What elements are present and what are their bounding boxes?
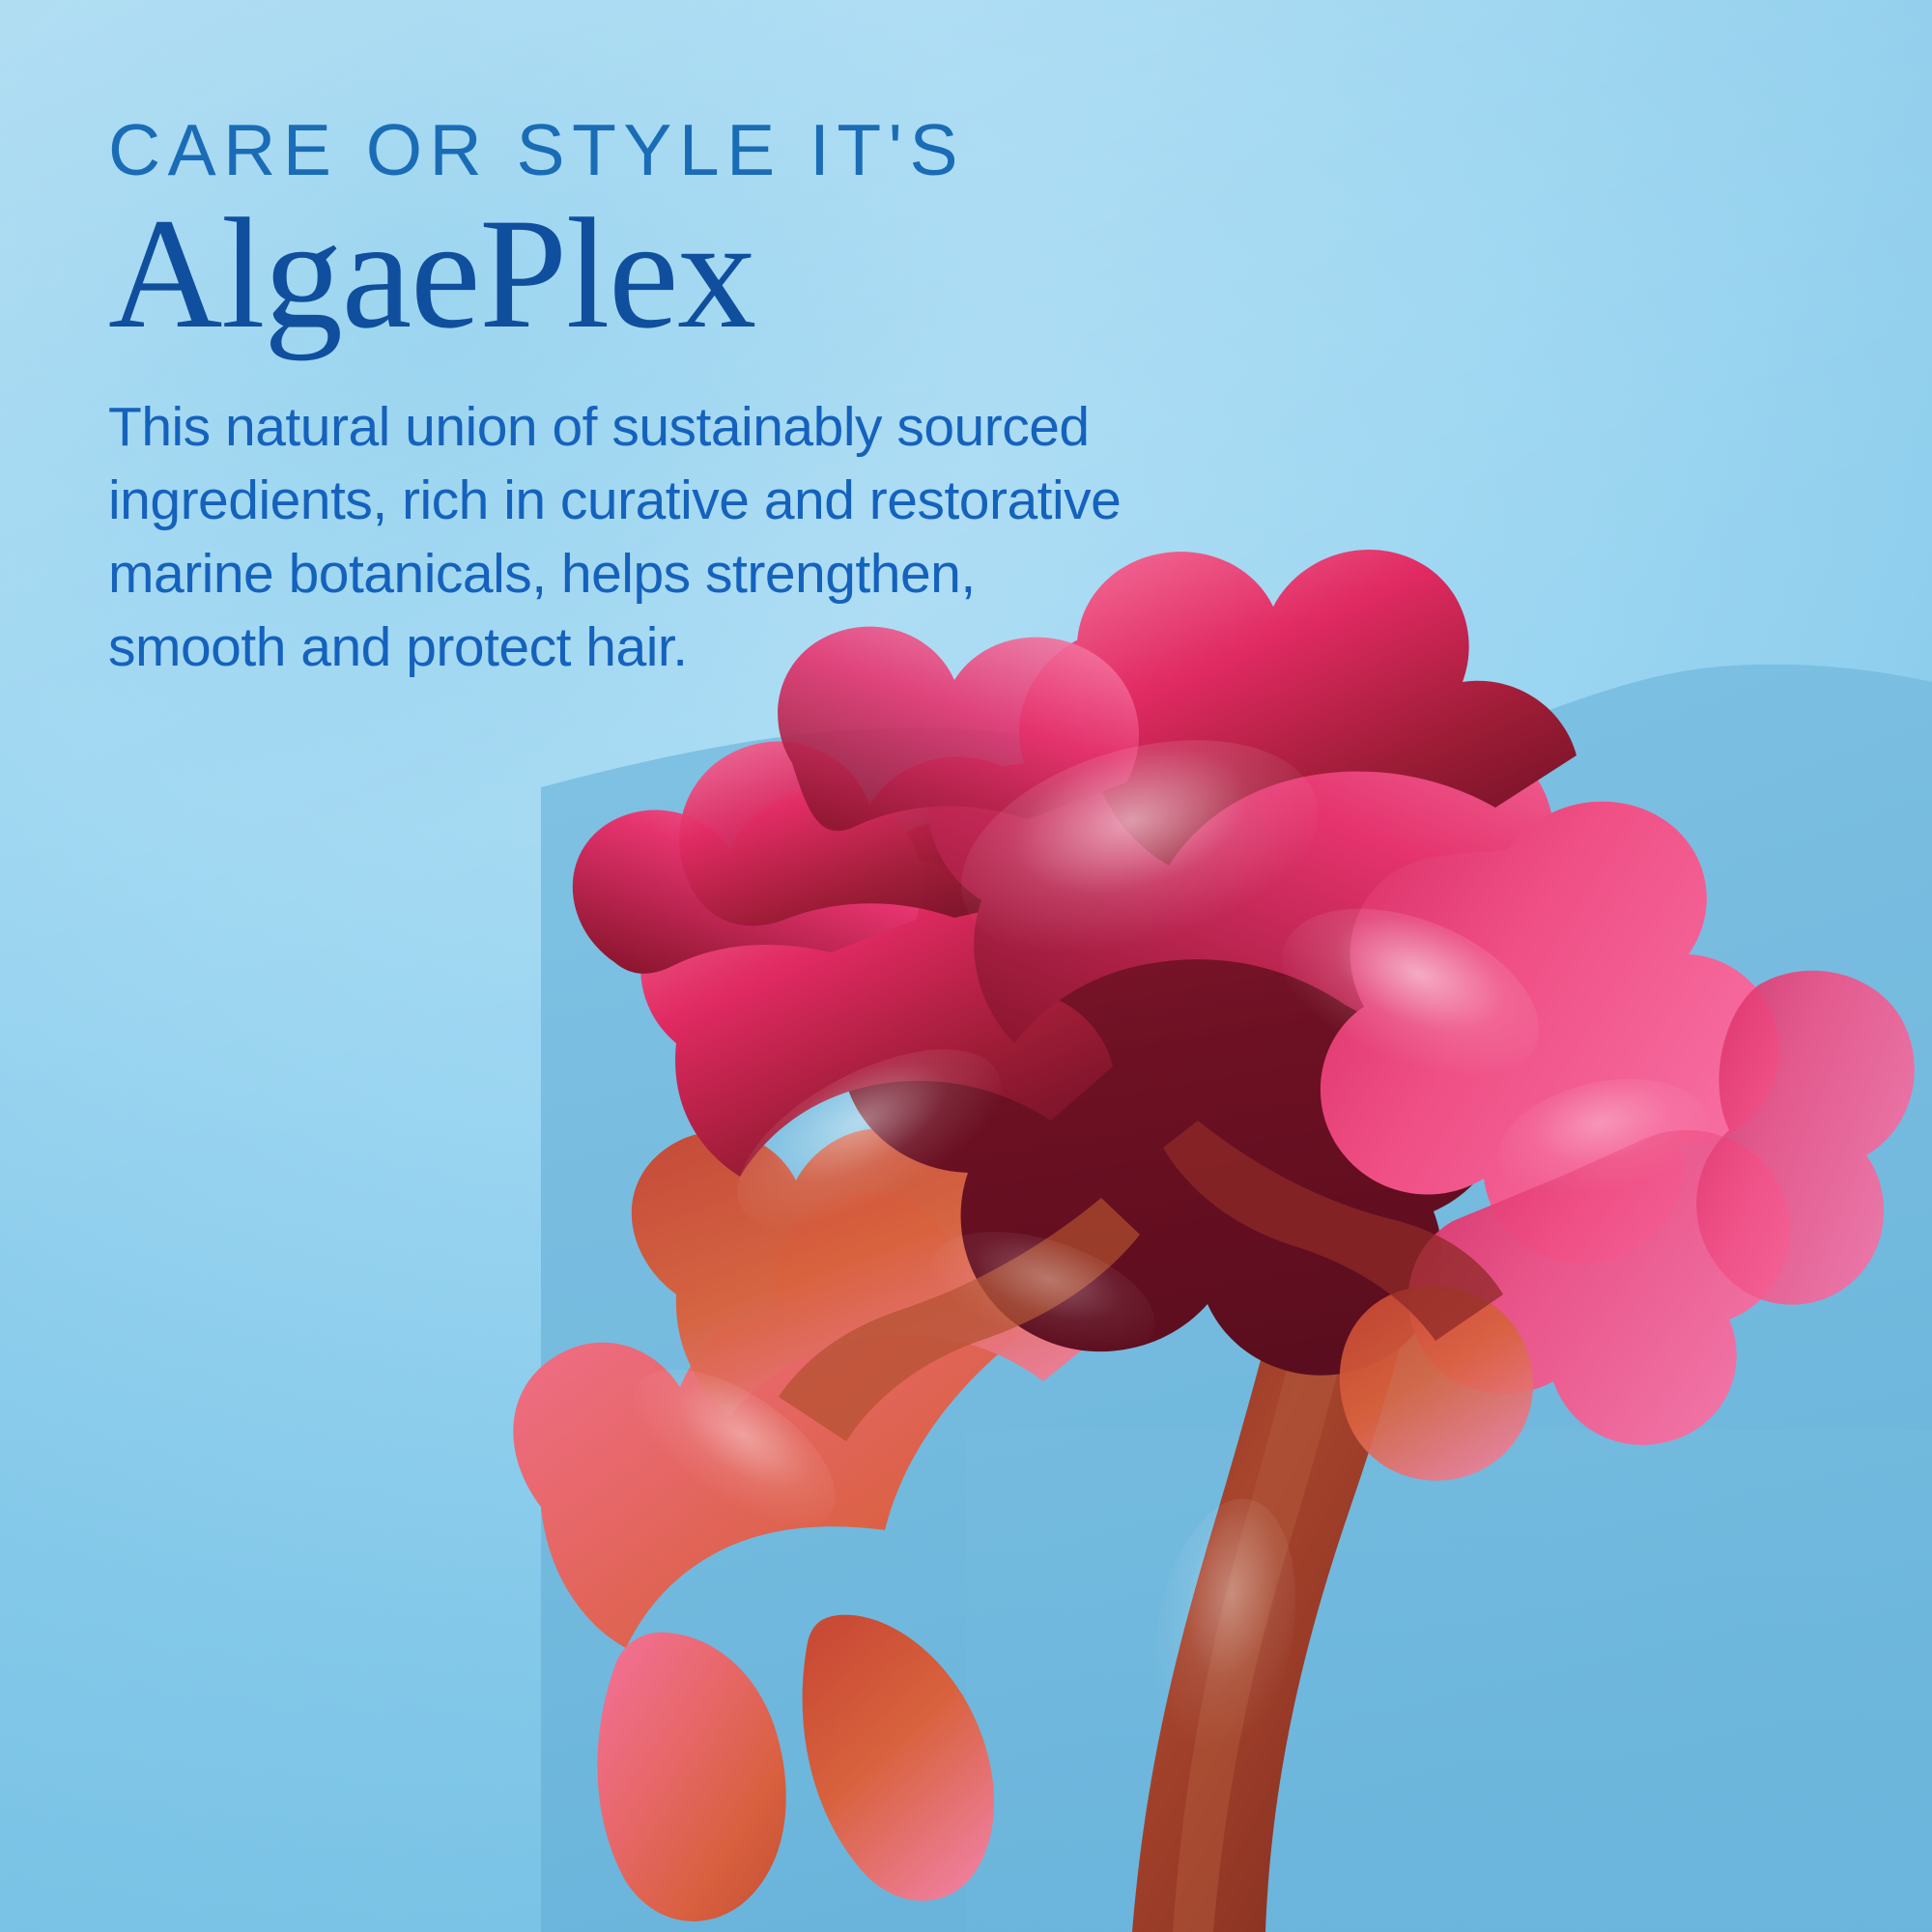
copy-block: CARE OR STYLE IT'S AlgaePlex This natura…: [108, 114, 1190, 684]
promo-canvas: CARE OR STYLE IT'S AlgaePlex This natura…: [0, 0, 1932, 1932]
body-line-1: This natural union of sustainably source…: [108, 390, 1132, 464]
brand-wordmark: AlgaePlex: [108, 192, 1190, 357]
eyebrow-headline: CARE OR STYLE IT'S: [108, 114, 1190, 186]
body-line-2: ingredients, rich in curative and restor…: [108, 464, 1132, 537]
body-line-3: marine botanicals, helps strengthen,: [108, 537, 1132, 611]
body-paragraph: This natural union of sustainably source…: [108, 390, 1132, 684]
body-line-4: smooth and protect hair.: [108, 611, 1132, 684]
